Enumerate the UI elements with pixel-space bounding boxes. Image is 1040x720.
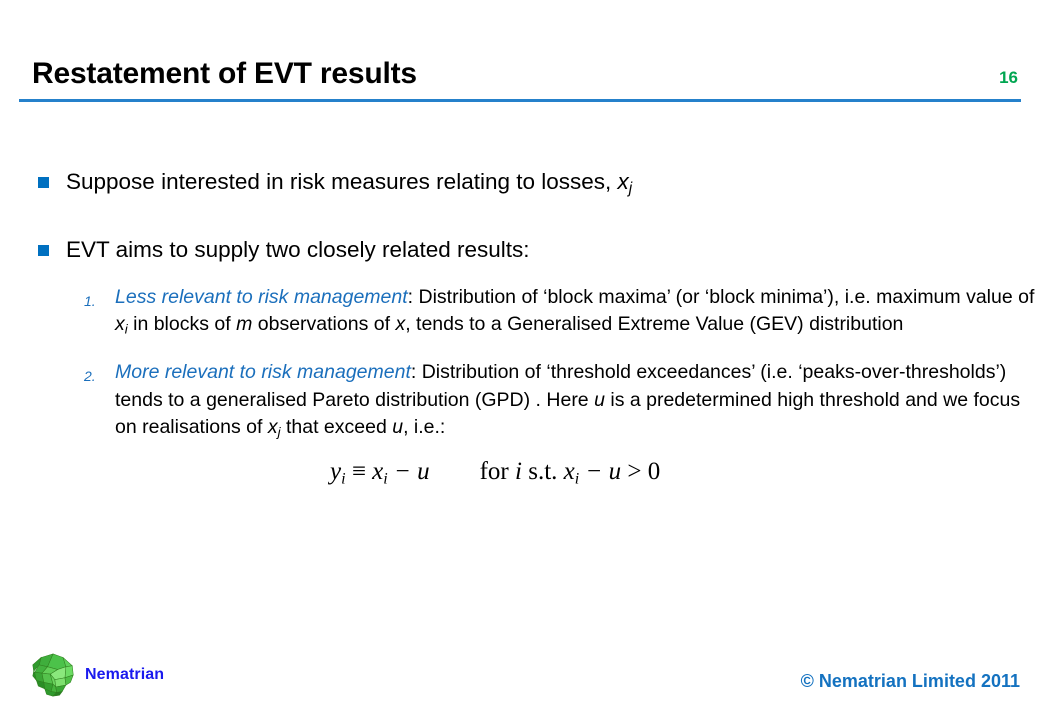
bullet-1-variable: x — [618, 169, 629, 194]
formula-equivalence-operator: ≡ — [346, 458, 373, 485]
formula-greater-than-zero: > 0 — [621, 458, 660, 485]
page-number: 16 — [999, 68, 1018, 88]
brand-logo[interactable]: Nematrian — [30, 652, 164, 698]
formula-y: y — [330, 458, 341, 485]
formula-gap — [430, 458, 480, 485]
bullet-item-2: EVT aims to supply two closely related r… — [0, 236, 1040, 263]
numbered-item-1: 1.Less relevant to risk management: Dist… — [0, 284, 1040, 343]
bullet-1-text: Suppose interested in risk measures rela… — [66, 169, 618, 194]
formula-minus-u2: − u — [579, 458, 621, 485]
numbered-item-1-var3: x — [395, 313, 405, 335]
bullet-1-subscript: j — [629, 180, 632, 197]
numbered-item-1-seg2: in blocks of — [128, 313, 236, 335]
numbered-item-1-lead-in: Less relevant to risk management — [115, 286, 408, 308]
slide-header: Restatement of EVT results 16 — [0, 0, 1040, 105]
numbered-list: 1.Less relevant to risk management: Dist… — [0, 284, 1040, 446]
numbered-item-2-lead-in: More relevant to risk management — [115, 361, 411, 383]
formula-x: x — [372, 458, 383, 485]
slide-footer: Nematrian © Nematrian Limited 2011 — [0, 630, 1040, 720]
brand-logo-label: Nematrian — [85, 666, 164, 684]
numbered-item-2-var1: u — [594, 389, 605, 411]
polyhedron-logo-icon — [30, 652, 76, 698]
formula-minus-u: − u — [388, 458, 430, 485]
numbered-item-1-seg4: , tends to a Generalised Extreme Value (… — [405, 313, 903, 335]
numbered-item-2-seg3: that exceed — [281, 416, 393, 438]
numbered-item-1-var1: x — [115, 313, 125, 335]
formula-x2: x — [564, 458, 575, 485]
numbered-item-1-var2: m — [236, 313, 252, 335]
formula-i: i — [515, 458, 522, 485]
copyright-notice: © Nematrian Limited 2011 — [801, 671, 1020, 692]
numbered-item-2: 2.More relevant to risk management: Dist… — [0, 359, 1040, 446]
slide-body: Suppose interested in risk measures rela… — [0, 105, 1040, 517]
numbered-item-2-var2: x — [268, 416, 278, 438]
formula-expression: yi ≡ xi − u for i s.t. xi − u > 0 — [0, 458, 1040, 516]
numbered-item-2-marker: 2. — [84, 363, 96, 391]
formula-st-word: s.t. — [522, 458, 564, 485]
numbered-item-1-seg3: observations of — [252, 313, 395, 335]
numbered-item-1-seg1: : Distribution of ‘block maxima’ (or ‘bl… — [408, 286, 1035, 308]
numbered-item-2-var3: u — [392, 416, 403, 438]
slide-root: { "slide": { "title": "Restatement of EV… — [0, 0, 1040, 720]
numbered-item-1-marker: 1. — [84, 288, 96, 316]
bullet-square-icon — [38, 177, 49, 188]
bullet-item-1: Suppose interested in risk measures rela… — [0, 168, 1040, 202]
bullet-square-icon — [38, 245, 49, 256]
title-divider — [19, 99, 1021, 102]
formula-for-word: for — [480, 458, 515, 485]
bullet-2-text: EVT aims to supply two closely related r… — [66, 237, 530, 262]
page-title: Restatement of EVT results — [32, 57, 417, 91]
numbered-item-2-seg4: , i.e.: — [403, 416, 445, 438]
